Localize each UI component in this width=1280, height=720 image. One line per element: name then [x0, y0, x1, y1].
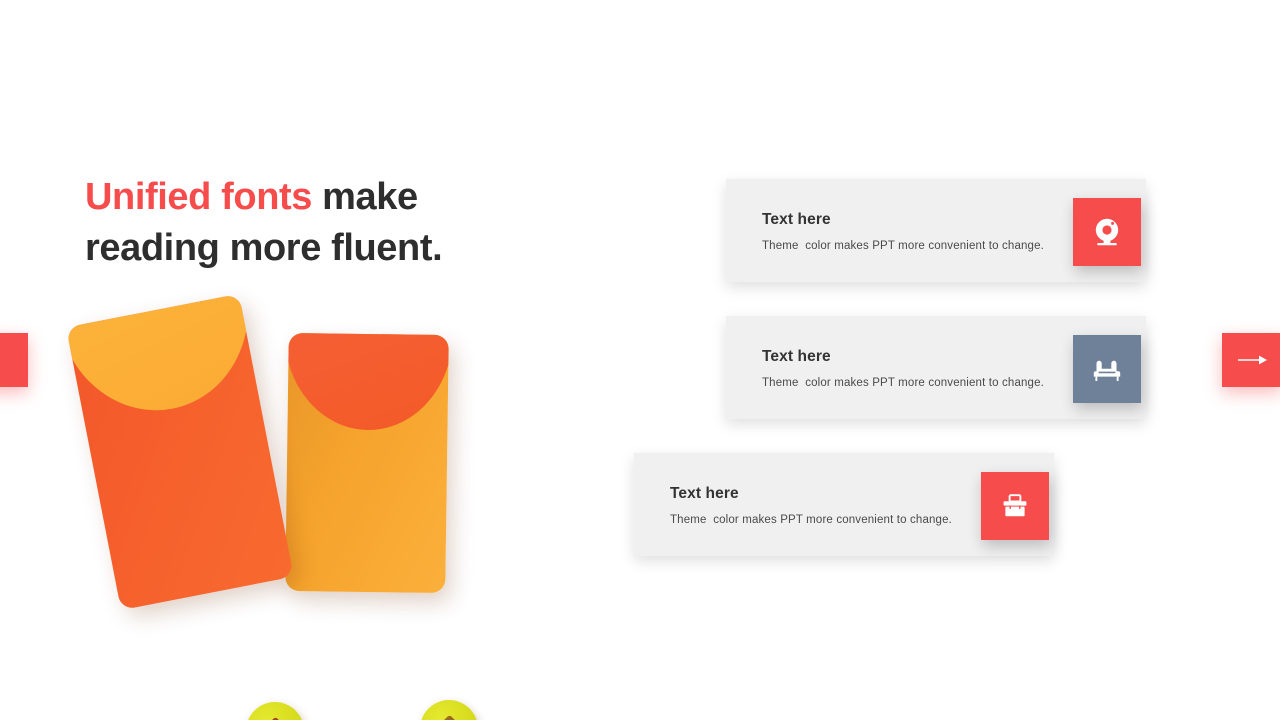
red-envelopes-illustration — [80, 300, 462, 622]
headline-accent: Unified fonts — [85, 176, 312, 218]
card-description: Theme color makes PPT more convenient to… — [670, 514, 952, 526]
feature-card[interactable]: Text here Theme color makes PPT more con… — [726, 179, 1146, 282]
envelope-front — [66, 294, 294, 610]
card-description: Theme color makes PPT more convenient to… — [762, 377, 1044, 389]
webcam-icon — [1089, 214, 1125, 250]
card-icon-tile[interactable] — [1073, 335, 1141, 403]
next-slide-button[interactable] — [1222, 333, 1280, 387]
card-icon-tile[interactable] — [1073, 198, 1141, 266]
coin-hole — [260, 716, 290, 720]
slide-canvas: Unified fonts make reading more fluent. … — [0, 0, 1280, 720]
toolbox-icon — [997, 488, 1033, 524]
armchair-icon — [1089, 351, 1125, 387]
feature-card[interactable]: Text here Theme color makes PPT more con… — [634, 453, 1054, 556]
card-icon-tile[interactable] — [981, 472, 1049, 540]
coin-clasp-back-icon — [420, 700, 478, 720]
card-title: Text here — [762, 348, 1044, 366]
envelope-back-flap — [285, 333, 449, 431]
card-description: Theme color makes PPT more convenient to… — [762, 240, 1044, 252]
feature-card[interactable]: Text here Theme color makes PPT more con… — [726, 316, 1146, 419]
previous-slide-button[interactable] — [0, 333, 28, 387]
envelope-back — [285, 333, 449, 593]
card-text-block: Text here Theme color makes PPT more con… — [762, 348, 1044, 389]
arrow-right-icon — [1236, 353, 1268, 367]
card-title: Text here — [762, 211, 1044, 229]
page-title: Unified fonts make reading more fluent. — [85, 172, 555, 274]
envelope-front-flap — [66, 294, 266, 427]
card-title: Text here — [670, 485, 952, 503]
card-text-block: Text here Theme color makes PPT more con… — [670, 485, 952, 526]
coin-clasp-front-icon — [246, 702, 304, 720]
card-text-block: Text here Theme color makes PPT more con… — [762, 211, 1044, 252]
coin-hole — [434, 714, 464, 720]
